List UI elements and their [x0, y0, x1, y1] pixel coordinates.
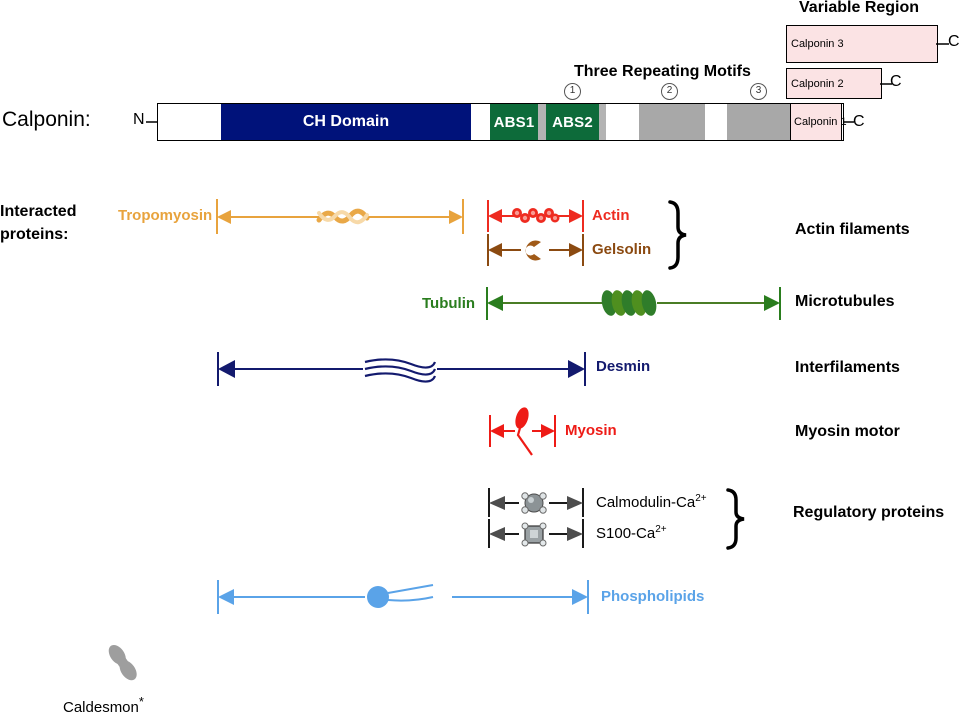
protein-label-desmin: Desmin — [596, 358, 650, 375]
segment-calponin-1-box: Calponin 1 — [790, 104, 842, 140]
variable-region-heading: Variable Region — [799, 0, 919, 17]
actin-beads-icon — [512, 208, 560, 223]
category-regulatory-proteins: Regulatory proteins — [793, 504, 944, 522]
regulatory-proteins-brace — [722, 488, 750, 550]
segment-ch-domain-label: CH Domain — [221, 104, 471, 139]
interacted-proteins-label-line2: proteins: — [0, 223, 68, 246]
tubulin-interaction-arrow — [485, 285, 785, 323]
segment-abs2-label: ABS2 — [552, 114, 593, 131]
interacted-proteins-label-line1: Interacted — [0, 200, 76, 223]
gelsolin-interaction-arrow — [487, 232, 587, 268]
desmin-waves-icon — [365, 359, 435, 381]
segment-calponin-1-label: Calponin 1 — [794, 116, 847, 128]
protein-label-myosin: Myosin — [565, 422, 617, 439]
protein-label-phospholipids: Phospholipids — [601, 588, 704, 605]
calmodulin-interaction-arrow — [487, 487, 587, 519]
variable-box-calponin-2: Calponin 2 — [786, 68, 882, 99]
myosin-interaction-arrow — [488, 405, 560, 461]
s100-charge-sup: 2+ — [655, 524, 666, 535]
three-repeating-motifs-heading: Three Repeating Motifs — [574, 63, 751, 81]
repeat-number-2: 2 — [661, 83, 678, 100]
figure-canvas: Variable Region Calponin 3 C Calponin 2 … — [0, 0, 960, 716]
myosin-head-icon — [513, 406, 532, 455]
protein-label-calmodulin: Calmodulin-Ca2+ — [596, 493, 707, 511]
protein-label-actin: Actin — [592, 207, 630, 224]
caldesmon-label: Caldesmon* — [63, 694, 144, 716]
gelsolin-crescent-icon — [525, 241, 541, 261]
segment-abs1-label: ABS1 — [494, 114, 535, 131]
repeat-number-3: 3 — [750, 83, 767, 100]
calmodulin-charge-sup: 2+ — [695, 493, 706, 504]
segment-grey-strip-2 — [599, 104, 606, 140]
phospholipid-icon — [367, 585, 433, 608]
calmodulin-base-text: Calmodulin-Ca — [596, 494, 695, 511]
caldesmon-asterisk: * — [139, 694, 144, 709]
calponin-3-c-terminus-label: C — [948, 33, 960, 51]
phospholipids-interaction-arrow — [215, 578, 595, 618]
calponin-row-label: Calponin: — [2, 108, 91, 132]
segment-grey-strip-1 — [538, 104, 546, 140]
coiled-coil-icon — [319, 211, 367, 222]
segment-abs1: ABS1 — [490, 104, 538, 140]
category-myosin-motor: Myosin motor — [795, 423, 900, 441]
calponin-domain-bar: CH Domain ABS1 ABS2 Calponin 1 — [157, 103, 844, 141]
calponin-1-c-terminus-label: C — [853, 113, 865, 131]
protein-label-s100: S100-Ca2+ — [596, 524, 667, 542]
variable-box-calponin-3: Calponin 3 — [786, 25, 938, 63]
calmodulin-sphere-icon — [522, 493, 546, 513]
category-actin-filaments: Actin filaments — [795, 221, 910, 239]
segment-repeat-2 — [639, 104, 705, 140]
variable-box-calponin-2-label: Calponin 2 — [791, 78, 844, 90]
n-terminus-label: N — [133, 111, 145, 129]
protein-label-gelsolin: Gelsolin — [592, 241, 651, 258]
protein-label-tropomyosin: Tropomyosin — [118, 207, 212, 224]
category-microtubules: Microtubules — [795, 293, 895, 311]
tubulin-helix-icon — [599, 289, 658, 317]
caldesmon-dumbbell-icon — [100, 640, 146, 686]
segment-abs2: ABS2 — [546, 104, 599, 140]
segment-ch-domain: CH Domain — [221, 104, 471, 140]
protein-label-tubulin: Tubulin — [422, 295, 475, 312]
s100-interaction-arrow — [487, 518, 587, 550]
actin-filaments-brace — [664, 200, 692, 270]
caldesmon-text: Caldesmon — [63, 699, 139, 716]
segment-repeat-3 — [727, 104, 790, 140]
s100-base-text: S100-Ca — [596, 525, 655, 542]
s100-square-icon — [522, 523, 546, 546]
desmin-interaction-arrow — [215, 350, 590, 390]
category-interfilaments: Interfilaments — [795, 359, 900, 377]
repeat-number-1: 1 — [564, 83, 581, 100]
variable-box-calponin-3-label: Calponin 3 — [791, 38, 844, 50]
tropomyosin-interaction-arrow — [215, 196, 475, 238]
actin-interaction-arrow — [487, 198, 587, 234]
calponin-2-c-terminus-label: C — [890, 73, 902, 91]
